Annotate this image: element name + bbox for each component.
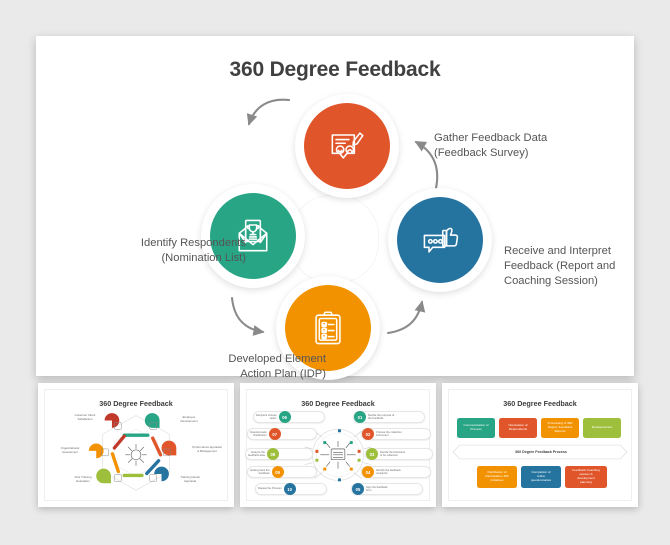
step-number-01: 01 — [354, 411, 366, 423]
hex-label-training-needs-appraisal: Training Needs Appraisal — [169, 476, 211, 483]
step-text-01: Decide the purpose of the feedback — [366, 414, 396, 420]
step-item-09[interactable]: 09 Getting back the feedback — [247, 466, 317, 478]
step-item-03[interactable]: 03 Decide the behaviors to be collected — [365, 448, 433, 460]
step-item-10[interactable]: 10 Repeat the Process — [255, 483, 327, 495]
step-number-03: 03 — [366, 448, 378, 460]
node-label-gather: Gather Feedback Data (Feedback Survey) — [434, 131, 584, 161]
process-box-processing-reports[interactable]: Processing of 360 Degree Feedback Report… — [541, 418, 579, 438]
step-item-04[interactable]: 04 Identify the feedback recipients — [361, 466, 431, 478]
node-receive-interpret-feedback[interactable] — [397, 197, 483, 283]
process-box-communication[interactable]: Communication of Process — [457, 418, 495, 438]
step-text-03: Decide the behaviors to be collected — [378, 451, 407, 457]
node-gather-feedback-data[interactable] — [304, 103, 390, 189]
step-text-10: Repeat the Process — [256, 487, 284, 490]
hex-label-customer-client-satisfaction: Customer Client Satisfaction — [65, 414, 105, 421]
hex-label-employee-development: Employee Development — [169, 416, 209, 423]
thumbs-up-chat-icon — [418, 218, 462, 262]
process-box-distribution[interactable]: Distribution of Participation 360 Initia… — [477, 466, 517, 488]
step-item-08[interactable]: 08 Analyze the feedback data — [245, 448, 313, 460]
process-banner-label: 360 Degree Feedback Process — [449, 443, 633, 461]
node-label-develop: Developed Element Action Plan (IDP) — [156, 352, 326, 382]
step-number-06: 06 — [279, 411, 291, 423]
step-text-02: Choose the collection instrument — [374, 431, 404, 437]
process-box-nomination[interactable]: Nomination of Respondents — [499, 418, 537, 438]
node-label-receive: Receive and Interpret Feedback (Report a… — [504, 244, 634, 290]
step-number-02: 02 — [362, 428, 374, 440]
node-label-identify: Identify Respondents (Nomination List) — [88, 236, 246, 266]
process-box-coaching[interactable]: Feedback Coaching session & development … — [565, 466, 607, 488]
hex-label-performance-appraisal: Performance Appraisal & Management — [185, 446, 229, 453]
step-text-04: Identify the feedback recipients — [374, 469, 403, 475]
thumbnail-slide-1[interactable]: 360 Degree Feedback — [38, 383, 234, 507]
hex-label-organizational-assessment: Organizational Assessment — [49, 447, 91, 454]
thumbnail-1-canvas: 360 Degree Feedback — [44, 389, 228, 501]
step-item-07[interactable]: 07 Questionnaire Distribution — [247, 428, 317, 440]
step-text-05: Sign the feedback form — [364, 486, 390, 492]
step-text-08: Analyze the feedback data — [246, 451, 267, 457]
step-item-02[interactable]: 02 Choose the collection instrument — [361, 428, 431, 440]
thumbnail-2-canvas: 360 Degree Feedback — [246, 389, 430, 501]
step-number-04: 04 — [362, 466, 374, 478]
step-number-09: 09 — [272, 466, 284, 478]
thumbnail-slide-3[interactable]: 360 Degree Feedback Communication of Pro… — [442, 383, 638, 507]
thumbnail-3-title: 360 Degree Feedback — [449, 399, 631, 408]
step-number-10: 10 — [284, 483, 296, 495]
step-item-05[interactable]: 05 Sign the feedback form — [351, 483, 423, 495]
step-item-06[interactable]: 06 Recipient choose raters — [253, 411, 325, 423]
process-box-reassessment[interactable]: Reassessment — [583, 418, 621, 438]
cycle-diagram: Gather Feedback Data (Feedback Survey) R… — [36, 36, 634, 376]
step-text-06: Recipient choose raters — [254, 414, 279, 420]
arrow-bottom-to-right — [388, 302, 422, 333]
step-number-07: 07 — [269, 428, 281, 440]
step-text-09: Getting back the feedback — [248, 469, 272, 475]
step-number-05: 05 — [352, 483, 364, 495]
step-item-01[interactable]: 01 Decide the purpose of the feedback — [353, 411, 425, 423]
main-slide-card[interactable]: 360 Degree Feedback — [36, 36, 634, 376]
survey-pencil-icon — [325, 124, 369, 168]
thumbnail-slide-2[interactable]: 360 Degree Feedback — [240, 383, 436, 507]
thumbnail-3-canvas: 360 Degree Feedback Communication of Pro… — [448, 389, 632, 501]
arrow-left-to-bottom — [232, 298, 263, 332]
clipboard-checklist-icon — [306, 306, 350, 350]
arrow-top-to-left — [249, 100, 289, 124]
hex-label-post-training-evaluation: Post Training Evaluation — [63, 476, 103, 483]
process-box-completion[interactable]: Completion of online questionnaires — [521, 466, 561, 488]
step-number-08: 08 — [267, 448, 279, 460]
step-text-07: Questionnaire Distribution — [248, 431, 269, 437]
screenshot-root: 360 Degree Feedback — [0, 0, 670, 545]
